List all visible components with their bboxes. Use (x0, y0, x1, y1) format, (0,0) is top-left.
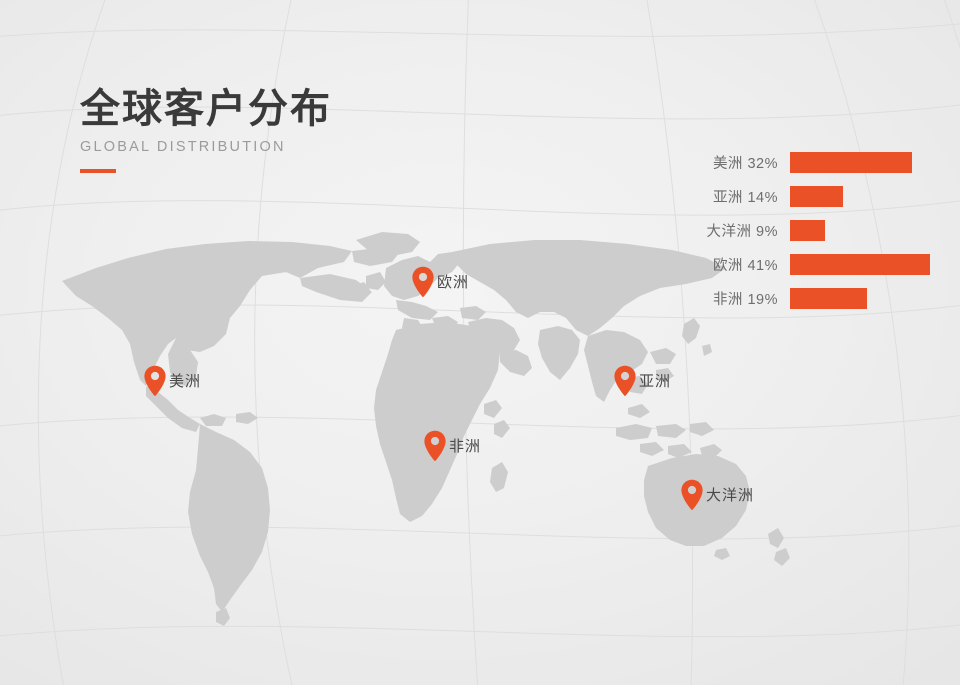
map-marker-label: 大洋洲 (706, 484, 754, 505)
map-marker-americas[interactable]: 美洲 (143, 365, 167, 396)
chart-row-track (790, 186, 930, 207)
location-pin-icon (143, 365, 167, 396)
map-marker-asia[interactable]: 亚洲 (613, 365, 637, 396)
chart-row-label: 大洋洲 9% (700, 220, 790, 241)
chart-row[interactable]: 大洋洲 9% (700, 220, 930, 241)
chart-row-track (790, 152, 930, 173)
page-subtitle: GLOBAL DISTRIBUTION (80, 139, 332, 155)
map-marker-africa[interactable]: 非洲 (423, 430, 447, 461)
location-pin-icon (680, 479, 704, 510)
chart-row-label: 亚洲 14% (700, 186, 790, 207)
slide-canvas: 全球客户分布 GLOBAL DISTRIBUTION 美洲 欧洲 非洲 亚洲 (0, 0, 960, 685)
map-marker-label: 美洲 (169, 370, 201, 391)
chart-row-track (790, 288, 930, 309)
distribution-bar-chart: 美洲 32% 亚洲 14% 大洋洲 9% 欧洲 41% 非洲 19% (700, 152, 930, 309)
map-marker-label: 亚洲 (639, 370, 671, 391)
location-pin-icon (613, 365, 637, 396)
chart-bar (790, 220, 825, 241)
chart-row-label: 欧洲 41% (700, 254, 790, 275)
chart-row[interactable]: 美洲 32% (700, 152, 930, 173)
chart-bar (790, 152, 912, 173)
map-marker-europe[interactable]: 欧洲 (411, 266, 435, 297)
map-marker-label: 非洲 (449, 435, 481, 456)
chart-row-label: 非洲 19% (700, 288, 790, 309)
chart-row[interactable]: 亚洲 14% (700, 186, 930, 207)
title-accent-rule (80, 169, 116, 173)
page-title: 全球客户分布 (80, 88, 332, 130)
chart-row-label: 美洲 32% (700, 152, 790, 173)
chart-row-track (790, 220, 930, 241)
location-pin-icon (411, 266, 435, 297)
chart-row[interactable]: 非洲 19% (700, 288, 930, 309)
location-pin-icon (423, 430, 447, 461)
chart-bar (790, 254, 930, 275)
chart-row-track (790, 254, 930, 275)
chart-row[interactable]: 欧洲 41% (700, 254, 930, 275)
map-marker-oceania[interactable]: 大洋洲 (680, 479, 704, 510)
chart-bar (790, 186, 843, 207)
chart-bar (790, 288, 867, 309)
map-marker-label: 欧洲 (437, 271, 469, 292)
heading-block: 全球客户分布 GLOBAL DISTRIBUTION (80, 88, 332, 173)
